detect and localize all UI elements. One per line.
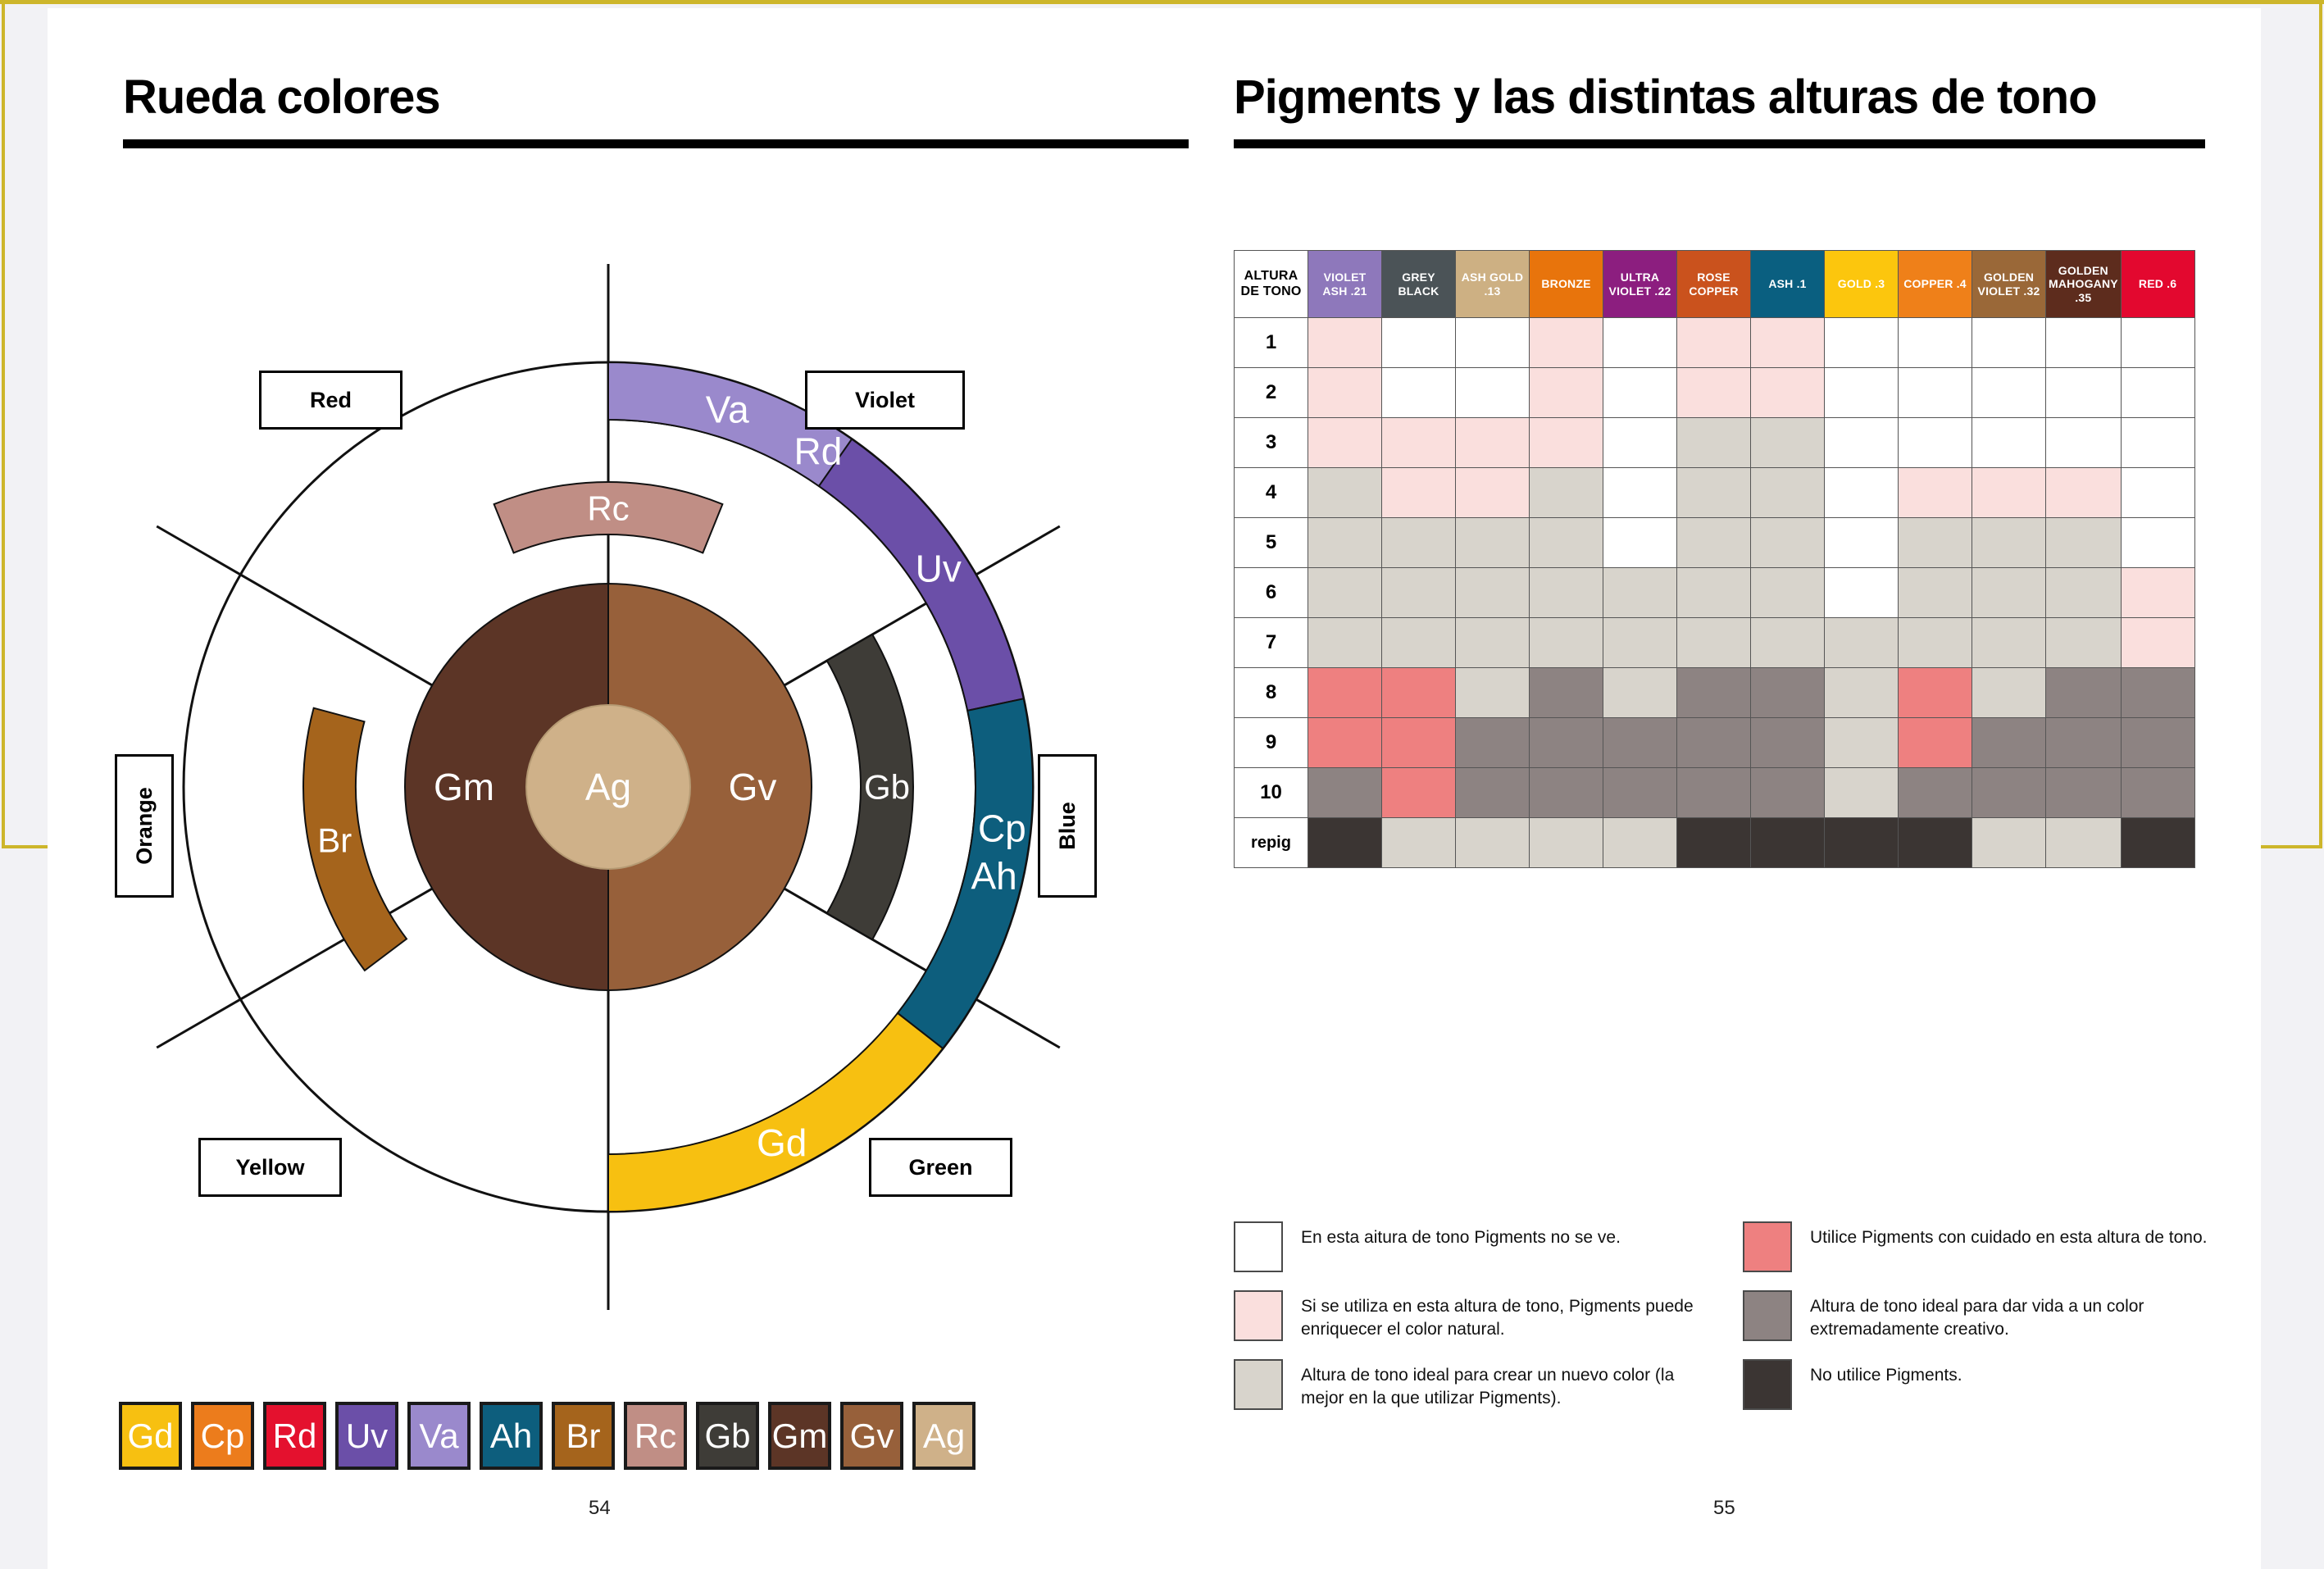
cell-r10-c5	[1603, 768, 1677, 818]
wheel-outer-segment-label-gd: Gd	[757, 1121, 807, 1164]
cell-r5-c2	[1382, 518, 1456, 568]
swatch-label: Gb	[704, 1417, 750, 1456]
cell-r3-c4	[1530, 418, 1603, 468]
row-header-7: 7	[1235, 618, 1308, 668]
cell-r2-c10	[1972, 368, 2046, 418]
cell-r2-c9	[1899, 368, 1972, 418]
wheel-mid-segment-label-br: Br	[317, 821, 352, 859]
cell-rrepig-c7	[1751, 818, 1825, 868]
swatch-label: Uv	[346, 1417, 388, 1456]
cell-r4-c3	[1456, 468, 1530, 518]
cell-r6-c6	[1677, 568, 1751, 618]
column-header-gold-3: GOLD .3	[1825, 251, 1899, 318]
cell-r6-c7	[1751, 568, 1825, 618]
wheel-label-red: Red	[259, 371, 402, 430]
legend-item-6: No utilice Pigments.	[1743, 1359, 2217, 1428]
cell-r10-c4	[1530, 768, 1603, 818]
row-header-6: 6	[1235, 568, 1308, 618]
gold-frame-top-border	[0, 0, 2324, 4]
row-header-10: 10	[1235, 768, 1308, 818]
cell-r9-c5	[1603, 718, 1677, 768]
legend-swatch-5	[1234, 1359, 1283, 1410]
cell-r4-c2	[1382, 468, 1456, 518]
swatch-gd[interactable]: Gd	[119, 1402, 182, 1470]
cell-r4-c6	[1677, 468, 1751, 518]
cell-r3-c8	[1825, 418, 1899, 468]
cell-r1-c11	[2046, 318, 2122, 368]
cell-r10-c12	[2121, 768, 2194, 818]
page-number-right: 55	[1713, 1497, 1735, 1520]
swatch-label: Rd	[273, 1417, 317, 1456]
cell-r5-c10	[1972, 518, 2046, 568]
cell-r9-c4	[1530, 718, 1603, 768]
swatch-cp[interactable]: Cp	[191, 1402, 254, 1470]
legend-swatch-6	[1743, 1359, 1792, 1410]
swatch-gv[interactable]: Gv	[840, 1402, 903, 1470]
cell-r9-c1	[1308, 718, 1382, 768]
table-row: 5	[1235, 518, 2195, 568]
cell-r2-c6	[1677, 368, 1751, 418]
cell-r10-c6	[1677, 768, 1751, 818]
wheel-label-orange-text: Orange	[132, 787, 157, 865]
swatch-va[interactable]: Va	[407, 1402, 471, 1470]
swatch-label: Rc	[634, 1417, 676, 1456]
cell-rrepig-c5	[1603, 818, 1677, 868]
pigment-swatch-strip: GdCpRdUvVaAhBrRcGbGmGvAg	[119, 1402, 976, 1470]
cell-r10-c9	[1899, 768, 1972, 818]
right-page-header: Pigments y las distintas alturas de tono	[1234, 70, 2205, 148]
column-header-grey-black: GREY BLACK	[1382, 251, 1456, 318]
column-header-red-6: RED .6	[2121, 251, 2194, 318]
cell-r6-c10	[1972, 568, 2046, 618]
cell-r6-c9	[1899, 568, 1972, 618]
cell-r8-c8	[1825, 668, 1899, 718]
cell-r8-c9	[1899, 668, 1972, 718]
cell-r4-c8	[1825, 468, 1899, 518]
wheel-label-orange: Orange	[115, 754, 174, 898]
swatch-label: Va	[419, 1417, 458, 1456]
cell-r1-c4	[1530, 318, 1603, 368]
cell-r8-c2	[1382, 668, 1456, 718]
swatch-label: Gv	[850, 1417, 894, 1456]
table-row: 1	[1235, 318, 2195, 368]
cell-r5-c11	[2046, 518, 2122, 568]
cell-r9-c6	[1677, 718, 1751, 768]
swatch-uv[interactable]: Uv	[335, 1402, 398, 1470]
cell-r2-c4	[1530, 368, 1603, 418]
cell-r8-c1	[1308, 668, 1382, 718]
wheel-label-violet-text: Violet	[855, 388, 915, 413]
table-body: 12345678910repig	[1235, 318, 2195, 868]
wheel-outer-segment-label-ah: Ah	[971, 855, 1016, 898]
swatch-label: Ag	[923, 1417, 965, 1456]
cell-r10-c8	[1825, 768, 1899, 818]
column-header-ash-gold-13: ASH GOLD .13	[1456, 251, 1530, 318]
table-row: 6	[1235, 568, 2195, 618]
title-rule-right	[1234, 139, 2205, 148]
cell-r7-c8	[1825, 618, 1899, 668]
cell-r2-c5	[1603, 368, 1677, 418]
cell-r9-c8	[1825, 718, 1899, 768]
table-row: 8	[1235, 668, 2195, 718]
cell-r7-c7	[1751, 618, 1825, 668]
cell-r3-c11	[2046, 418, 2122, 468]
cell-r10-c1	[1308, 768, 1382, 818]
gold-frame-right-upper	[2319, 0, 2322, 848]
cell-r3-c9	[1899, 418, 1972, 468]
wheel-label-green: Green	[869, 1138, 1012, 1197]
cell-r3-c3	[1456, 418, 1530, 468]
swatch-ah[interactable]: Ah	[480, 1402, 543, 1470]
column-header-copper-4: COPPER .4	[1899, 251, 1972, 318]
swatch-label: Ah	[490, 1417, 532, 1456]
row-header-5: 5	[1235, 518, 1308, 568]
row-header-9: 9	[1235, 718, 1308, 768]
cell-r4-c9	[1899, 468, 1972, 518]
cell-rrepig-c4	[1530, 818, 1603, 868]
wheel-label-yellow-text: Yellow	[235, 1155, 304, 1180]
cell-r2-c8	[1825, 368, 1899, 418]
left-page-header: Rueda colores	[123, 70, 1189, 148]
swatch-label: Gd	[127, 1417, 173, 1456]
column-header-bronze: BRONZE	[1530, 251, 1603, 318]
cell-r9-c2	[1382, 718, 1456, 768]
table-row: 2	[1235, 368, 2195, 418]
cell-r9-c3	[1456, 718, 1530, 768]
wheel-core-label-ag: Ag	[585, 766, 631, 808]
cell-r1-c8	[1825, 318, 1899, 368]
cell-r4-c1	[1308, 468, 1382, 518]
cell-r10-c11	[2046, 768, 2122, 818]
cell-rrepig-c10	[1972, 818, 2046, 868]
column-header-ash-1: ASH .1	[1751, 251, 1825, 318]
cell-r6-c5	[1603, 568, 1677, 618]
swatch-label: Cp	[201, 1417, 245, 1456]
wheel-inner-disc-label-gm: Gm	[434, 766, 494, 808]
table-row: repig	[1235, 818, 2195, 868]
wheel-label-green-text: Green	[908, 1155, 972, 1180]
cell-rrepig-c8	[1825, 818, 1899, 868]
cell-r8-c5	[1603, 668, 1677, 718]
wheel-outer-segment-label-rd: Rd	[794, 430, 843, 472]
cell-r2-c12	[2121, 368, 2194, 418]
pigments-tone-height-table: ALTURADE TONOVIOLET ASH .21GREY BLACKASH…	[1234, 250, 2195, 868]
cell-r9-c11	[2046, 718, 2122, 768]
cell-r6-c1	[1308, 568, 1382, 618]
cell-r6-c11	[2046, 568, 2122, 618]
table-row: 10	[1235, 768, 2195, 818]
cell-r1-c2	[1382, 318, 1456, 368]
cell-r7-c10	[1972, 618, 2046, 668]
cell-r6-c8	[1825, 568, 1899, 618]
cell-r5-c8	[1825, 518, 1899, 568]
cell-r1-c1	[1308, 318, 1382, 368]
legend-text-1: En esta aitura de tono Pigments no se ve…	[1301, 1221, 1621, 1249]
table-row: 7	[1235, 618, 2195, 668]
swatch-label: Gm	[772, 1417, 828, 1456]
row-header-4: 4	[1235, 468, 1308, 518]
swatch-rc[interactable]: Rc	[624, 1402, 687, 1470]
page-title-right: Pigments y las distintas alturas de tono	[1234, 70, 2205, 125]
cell-r2-c2	[1382, 368, 1456, 418]
cell-r8-c10	[1972, 668, 2046, 718]
legend: En esta aitura de tono Pigments no se ve…	[1234, 1221, 2217, 1428]
cell-r7-c9	[1899, 618, 1972, 668]
cell-r4-c12	[2121, 468, 2194, 518]
wheel-inner-disc-label-gv: Gv	[729, 766, 777, 808]
cell-r9-c7	[1751, 718, 1825, 768]
cell-r8-c3	[1456, 668, 1530, 718]
column-header-ultra-violet-22: ULTRA VIOLET .22	[1603, 251, 1677, 318]
legend-text-5: Altura de tono ideal para crear un nuevo…	[1301, 1359, 1708, 1410]
cell-r5-c4	[1530, 518, 1603, 568]
swatch-br[interactable]: Br	[552, 1402, 615, 1470]
cell-rrepig-c6	[1677, 818, 1751, 868]
column-header-rose-copper: ROSE COPPER	[1677, 251, 1751, 318]
wheel-mid-segment-label-rc: Rc	[587, 489, 629, 528]
legend-swatch-3	[1234, 1290, 1283, 1341]
column-header-golden-mahogany-35: GOLDEN MAHOGANY .35	[2046, 251, 2122, 318]
legend-item-2: Utilice Pigments con cuidado en esta alt…	[1743, 1221, 2217, 1290]
cell-r8-c12	[2121, 668, 2194, 718]
row-header-2: 2	[1235, 368, 1308, 418]
table-row: 3	[1235, 418, 2195, 468]
cell-r4-c10	[1972, 468, 2046, 518]
cell-r10-c3	[1456, 768, 1530, 818]
row-header-8: 8	[1235, 668, 1308, 718]
cell-r7-c6	[1677, 618, 1751, 668]
cell-r1-c3	[1456, 318, 1530, 368]
cell-r5-c12	[2121, 518, 2194, 568]
cell-r7-c3	[1456, 618, 1530, 668]
legend-text-6: No utilice Pigments.	[1810, 1359, 1962, 1387]
row-header-repig: repig	[1235, 818, 1308, 868]
cell-r5-c3	[1456, 518, 1530, 568]
cell-r5-c6	[1677, 518, 1751, 568]
legend-item-5: Altura de tono ideal para crear un nuevo…	[1234, 1359, 1708, 1428]
legend-text-3: Si se utiliza en esta altura de tono, Pi…	[1301, 1290, 1708, 1341]
cell-r3-c1	[1308, 418, 1382, 468]
cell-r2-c11	[2046, 368, 2122, 418]
swatch-gm[interactable]: Gm	[768, 1402, 831, 1470]
cell-r1-c7	[1751, 318, 1825, 368]
cell-r5-c7	[1751, 518, 1825, 568]
page-title-left: Rueda colores	[123, 70, 1189, 125]
color-wheel: RdCpGdVaUvAhRcBrGbGmGvAg Red Violet Oran…	[90, 262, 1148, 1312]
cell-r7-c5	[1603, 618, 1677, 668]
page-number-left: 54	[589, 1497, 611, 1520]
cell-rrepig-c11	[2046, 818, 2122, 868]
cell-r6-c4	[1530, 568, 1603, 618]
legend-item-1: En esta aitura de tono Pigments no se ve…	[1234, 1221, 1708, 1290]
cell-rrepig-c9	[1899, 818, 1972, 868]
row-header-3: 3	[1235, 418, 1308, 468]
legend-text-4: Altura de tono ideal para dar vida a un …	[1810, 1290, 2217, 1341]
cell-r9-c12	[2121, 718, 2194, 768]
legend-swatch-2	[1743, 1221, 1792, 1272]
cell-r4-c11	[2046, 468, 2122, 518]
cell-r8-c7	[1751, 668, 1825, 718]
gold-frame-left-upper	[2, 0, 5, 848]
cell-r9-c9	[1899, 718, 1972, 768]
cell-r6-c2	[1382, 568, 1456, 618]
cell-r3-c10	[1972, 418, 2046, 468]
column-header-golden-violet-32: GOLDEN VIOLET .32	[1972, 251, 2046, 318]
column-header-violet-ash-21: VIOLET ASH .21	[1308, 251, 1382, 318]
cell-r5-c5	[1603, 518, 1677, 568]
cell-rrepig-c1	[1308, 818, 1382, 868]
cell-r1-c9	[1899, 318, 1972, 368]
title-rule-left	[123, 139, 1189, 148]
wheel-label-violet: Violet	[805, 371, 965, 430]
cell-r7-c11	[2046, 618, 2122, 668]
cell-r8-c6	[1677, 668, 1751, 718]
cell-r6-c12	[2121, 568, 2194, 618]
wheel-outer-segment-label-cp: Cp	[978, 807, 1026, 849]
cell-r7-c2	[1382, 618, 1456, 668]
table-row: 4	[1235, 468, 2195, 518]
cell-r9-c10	[1972, 718, 2046, 768]
wheel-outer-segment-label-va: Va	[706, 388, 749, 430]
cell-r8-c11	[2046, 668, 2122, 718]
cell-r6-c3	[1456, 568, 1530, 618]
legend-text-2: Utilice Pigments con cuidado en esta alt…	[1810, 1221, 2207, 1249]
cell-r8-c4	[1530, 668, 1603, 718]
swatch-rd[interactable]: Rd	[263, 1402, 326, 1470]
wheel-label-blue-text: Blue	[1054, 802, 1080, 850]
cell-r5-c1	[1308, 518, 1382, 568]
table-header-row: ALTURADE TONOVIOLET ASH .21GREY BLACKASH…	[1235, 251, 2195, 318]
legend-swatch-1	[1234, 1221, 1283, 1272]
legend-swatch-4	[1743, 1290, 1792, 1341]
legend-item-4: Altura de tono ideal para dar vida a un …	[1743, 1290, 2217, 1359]
row-header-1: 1	[1235, 318, 1308, 368]
cell-r2-c7	[1751, 368, 1825, 418]
cell-r5-c9	[1899, 518, 1972, 568]
cell-r1-c10	[1972, 318, 2046, 368]
swatch-gb[interactable]: Gb	[696, 1402, 759, 1470]
table-row: 9	[1235, 718, 2195, 768]
swatch-label: Br	[566, 1417, 601, 1456]
cell-r10-c7	[1751, 768, 1825, 818]
cell-r3-c6	[1677, 418, 1751, 468]
cell-r10-c2	[1382, 768, 1456, 818]
cell-rrepig-c3	[1456, 818, 1530, 868]
cell-rrepig-c12	[2121, 818, 2194, 868]
cell-r7-c12	[2121, 618, 2194, 668]
cell-r10-c10	[1972, 768, 2046, 818]
wheel-label-blue: Blue	[1038, 754, 1097, 898]
cell-r2-c3	[1456, 368, 1530, 418]
cell-r7-c4	[1530, 618, 1603, 668]
cell-r4-c7	[1751, 468, 1825, 518]
table-corner-header: ALTURADE TONO	[1235, 251, 1308, 318]
cell-r1-c6	[1677, 318, 1751, 368]
cell-r3-c12	[2121, 418, 2194, 468]
cell-rrepig-c2	[1382, 818, 1456, 868]
cell-r4-c4	[1530, 468, 1603, 518]
wheel-outer-segment-label-uv: Uv	[916, 547, 962, 589]
cell-r3-c5	[1603, 418, 1677, 468]
cell-r3-c7	[1751, 418, 1825, 468]
wheel-label-red-text: Red	[310, 388, 352, 413]
cell-r1-c12	[2121, 318, 2194, 368]
cell-r4-c5	[1603, 468, 1677, 518]
cell-r3-c2	[1382, 418, 1456, 468]
wheel-mid-segment-label-gb: Gb	[864, 768, 910, 807]
wheel-label-yellow: Yellow	[198, 1138, 342, 1197]
swatch-ag[interactable]: Ag	[912, 1402, 976, 1470]
cell-r7-c1	[1308, 618, 1382, 668]
legend-item-3: Si se utiliza en esta altura de tono, Pi…	[1234, 1290, 1708, 1359]
cell-r2-c1	[1308, 368, 1382, 418]
cell-r1-c5	[1603, 318, 1677, 368]
